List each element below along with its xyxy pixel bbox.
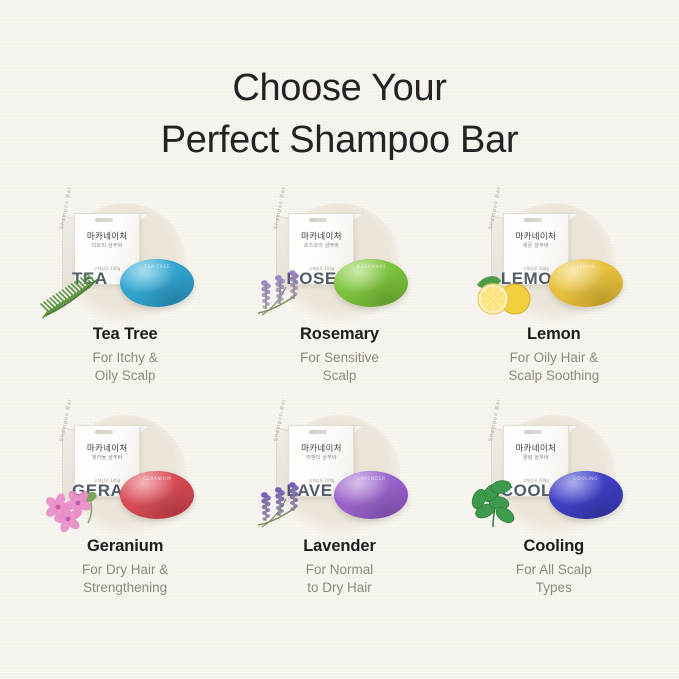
- botanical-lemon-slice-icon: [471, 265, 533, 317]
- product-benefit-line-1: For All Scalp: [516, 561, 592, 579]
- brand-logo-icon: [95, 218, 113, 222]
- box-brand-text: 마카네이처: [288, 442, 354, 454]
- product-card-cooling[interactable]: 마카네이처 쿨링 샴푸바 고체샴푸 100g Shampoo Bar COOL …: [447, 415, 661, 627]
- box-variant-text: 라벤더 샴푸바: [288, 454, 354, 461]
- box-brand-text: 마카네이처: [288, 230, 354, 242]
- product-image: 마카네이처 티트리 샴푸바 고체샴푸 100g Shampoo Bar TEA …: [40, 203, 210, 321]
- product-caption: Lavender For Normal to Dry Hair: [303, 537, 376, 597]
- box-variant-text: 레몬 샴푸바: [503, 242, 569, 249]
- product-benefit-line-2: Scalp: [300, 367, 379, 385]
- product-image: 마카네이처 로즈마리 샴푸바 고체샴푸 100g Shampoo Bar ROS…: [254, 203, 424, 321]
- soap-bar: GERANIUM: [120, 471, 194, 519]
- product-card-lemon[interactable]: 마카네이처 레몬 샴푸바 고체샴푸 100g Shampoo Bar LEMON…: [447, 203, 661, 415]
- box-brand-text: 마카네이처: [74, 230, 140, 242]
- product-benefit-line-1: For Oily Hair &: [508, 349, 599, 367]
- botanical-geranium-flower-icon: [42, 477, 104, 529]
- product-benefit-line-2: Oily Scalp: [93, 367, 158, 385]
- product-benefit-line-2: Strengthening: [82, 579, 168, 597]
- product-grid: 마카네이처 티트리 샴푸바 고체샴푸 100g Shampoo Bar TEA …: [0, 203, 679, 627]
- product-image: 마카네이처 레몬 샴푸바 고체샴푸 100g Shampoo Bar LEMON…: [469, 203, 639, 321]
- product-benefit-line-2: Types: [516, 579, 592, 597]
- product-card-rosemary[interactable]: 마카네이처 로즈마리 샴푸바 고체샴푸 100g Shampoo Bar ROS…: [232, 203, 446, 415]
- botanical-mint-leaves-icon: [471, 477, 533, 529]
- soap-bar: COOLING: [549, 471, 623, 519]
- soap-stamp-text: LEMON: [549, 265, 623, 270]
- soap-stamp-text: COOLING: [549, 477, 623, 482]
- brand-logo-icon: [309, 430, 327, 434]
- product-benefit-line-2: Scalp Soothing: [508, 367, 599, 385]
- soap-stamp-text: LAVENDER: [334, 477, 408, 482]
- box-variant-text: 티트리 샴푸바: [74, 242, 140, 249]
- product-card-tea-tree[interactable]: 마카네이처 티트리 샴푸바 고체샴푸 100g Shampoo Bar TEA …: [18, 203, 232, 415]
- product-benefit-line-2: to Dry Hair: [303, 579, 376, 597]
- product-caption: Cooling For All Scalp Types: [516, 537, 592, 597]
- box-variant-text: 쿨링 샴푸바: [503, 454, 569, 461]
- box-variant-text: 제라늄 샴푸바: [74, 454, 140, 461]
- soap-bar: LEMON: [549, 259, 623, 307]
- brand-logo-icon: [524, 430, 542, 434]
- product-card-geranium[interactable]: 마카네이처 제라늄 샴푸바 고체샴푸 100g Shampoo Bar GERA…: [18, 415, 232, 627]
- poster-canvas: Choose Your Perfect Shampoo Bar 마카네이처 티트…: [0, 0, 679, 679]
- box-brand-text: 마카네이처: [503, 442, 569, 454]
- box-variant-text: 로즈마리 샴푸바: [288, 242, 354, 249]
- page-title-line-1: Choose Your: [0, 62, 679, 114]
- botanical-rosemary-sprig-icon: [42, 265, 104, 317]
- product-benefit-line-1: For Normal: [303, 561, 376, 579]
- product-card-lavender[interactable]: 마카네이처 라벤더 샴푸바 고체샴푸 100g Shampoo Bar LAVE…: [232, 415, 446, 627]
- product-caption: Tea Tree For Itchy & Oily Scalp: [93, 325, 158, 385]
- brand-logo-icon: [309, 218, 327, 222]
- product-benefit-line-1: For Sensitive: [300, 349, 379, 367]
- product-image: 마카네이처 제라늄 샴푸바 고체샴푸 100g Shampoo Bar GERA…: [40, 415, 210, 533]
- page-title: Choose Your Perfect Shampoo Bar: [0, 0, 679, 167]
- product-name: Cooling: [516, 537, 592, 556]
- soap-stamp-text: TEA TREE: [120, 265, 194, 270]
- box-brand-text: 마카네이처: [74, 442, 140, 454]
- soap-bar: LAVENDER: [334, 471, 408, 519]
- product-caption: Geranium For Dry Hair & Strengthening: [82, 537, 168, 597]
- brand-logo-icon: [95, 430, 113, 434]
- soap-bar: TEA TREE: [120, 259, 194, 307]
- product-benefit-line-1: For Dry Hair &: [82, 561, 168, 579]
- product-name: Lemon: [508, 325, 599, 344]
- product-name: Tea Tree: [93, 325, 158, 344]
- product-image: 마카네이처 쿨링 샴푸바 고체샴푸 100g Shampoo Bar COOL …: [469, 415, 639, 533]
- botanical-lavender-sprig-icon: [256, 477, 318, 529]
- product-caption: Rosemary For Sensitive Scalp: [300, 325, 379, 385]
- product-name: Rosemary: [300, 325, 379, 344]
- product-name: Lavender: [303, 537, 376, 556]
- box-brand-text: 마카네이처: [503, 230, 569, 242]
- product-image: 마카네이처 라벤더 샴푸바 고체샴푸 100g Shampoo Bar LAVE…: [254, 415, 424, 533]
- botanical-lavender-sprig-icon: [256, 265, 318, 317]
- product-benefit-line-1: For Itchy &: [93, 349, 158, 367]
- page-title-line-2: Perfect Shampoo Bar: [0, 114, 679, 166]
- soap-stamp-text: ROSEMARY: [334, 265, 408, 270]
- soap-stamp-text: GERANIUM: [120, 477, 194, 482]
- product-caption: Lemon For Oily Hair & Scalp Soothing: [508, 325, 599, 385]
- soap-bar: ROSEMARY: [334, 259, 408, 307]
- product-name: Geranium: [82, 537, 168, 556]
- brand-logo-icon: [524, 218, 542, 222]
